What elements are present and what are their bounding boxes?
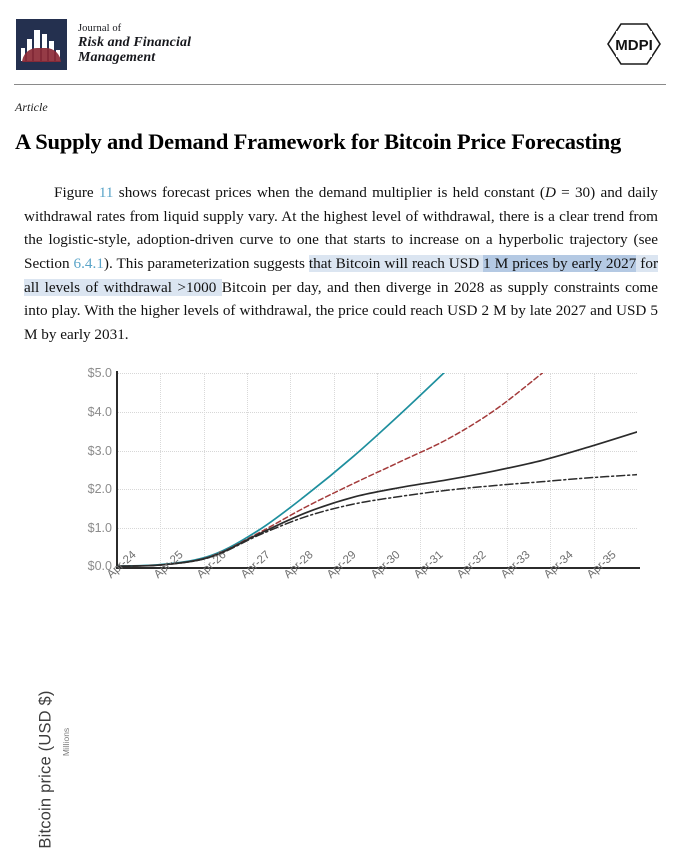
section-crossref-link[interactable]: 6.4.1 xyxy=(74,255,104,272)
journal-branding: Journal of Risk and Financial Management xyxy=(16,19,191,70)
figure-crossref-link[interactable]: 11 xyxy=(99,184,114,201)
journal-title-line3: Management xyxy=(78,50,191,66)
journal-title-line1: Journal of xyxy=(78,23,191,35)
x-axis-tick-labels: Apr-24 Apr-25 Apr-26 Apr-27 Apr-28 Apr-2… xyxy=(0,572,680,617)
chart-series-area xyxy=(117,373,637,567)
series-line-1 xyxy=(117,373,542,566)
journal-title: Journal of Risk and Financial Management xyxy=(78,23,191,66)
article-type-kicker: Article xyxy=(15,100,48,115)
y-axis-units-label: Millions xyxy=(61,719,71,765)
series-line-3 xyxy=(117,475,637,567)
series-svg xyxy=(117,373,637,567)
mdpi-logo: MDPI xyxy=(606,22,662,66)
hexagon-icon: MDPI xyxy=(606,22,662,66)
text-seg-4: ). This parameterization suggests xyxy=(104,255,309,272)
forecast-line-chart: Bitcoin price (USD $) Millions $5.0 $4.0… xyxy=(0,360,680,617)
text-seg-2: shows forecast prices when the demand mu… xyxy=(114,184,545,201)
body-paragraph: Figure 11 shows forecast prices when the… xyxy=(24,181,658,346)
y-tick-5: $5.0 xyxy=(66,366,112,380)
bar-chart-logo-icon xyxy=(16,19,67,70)
journal-title-line2: Risk and Financial xyxy=(78,35,191,51)
series-line-0 xyxy=(117,373,448,566)
y-tick-4: $4.0 xyxy=(66,405,112,419)
page-title: A Supply and Demand Framework for Bitcoi… xyxy=(15,129,665,156)
y-axis-label: Bitcoin price (USD $) xyxy=(37,675,56,865)
journal-header: Journal of Risk and Financial Management… xyxy=(0,0,680,88)
series-line-2 xyxy=(117,432,637,566)
highlighted-text-pre: that Bitcoin will reach USD xyxy=(309,255,483,272)
y-tick-2: $2.0 xyxy=(66,482,112,496)
y-tick-3: $3.0 xyxy=(66,444,112,458)
header-divider xyxy=(14,84,666,85)
selected-text[interactable]: 1 M prices by early 2027 xyxy=(483,255,636,272)
y-tick-1: $1.0 xyxy=(66,521,112,535)
variable-D: D xyxy=(545,184,556,201)
mdpi-wordmark: MDPI xyxy=(615,37,653,54)
text-seg-1: Figure xyxy=(54,184,99,201)
